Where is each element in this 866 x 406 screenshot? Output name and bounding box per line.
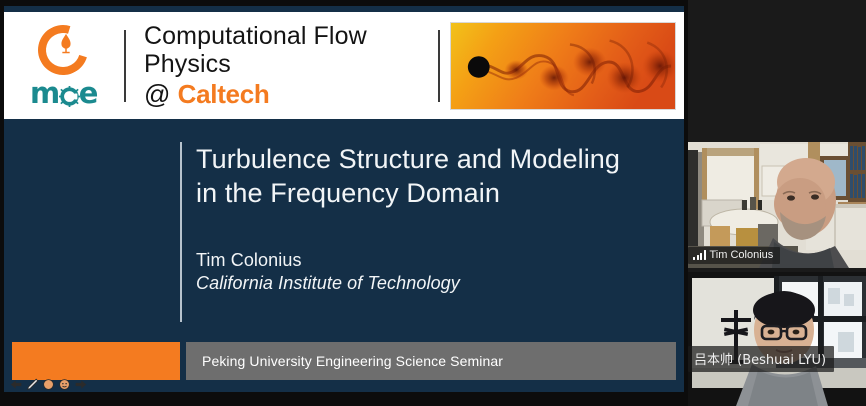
footer-bar: Peking University Engineering Science Se… bbox=[186, 342, 676, 380]
participant-video-panel[interactable]: Tim Colonius bbox=[688, 0, 866, 406]
stamp-icon[interactable] bbox=[42, 378, 55, 391]
slide-footer: Peking University Engineering Science Se… bbox=[4, 342, 684, 380]
slide-header-banner: m bbox=[4, 12, 684, 119]
gear-c-icon bbox=[59, 83, 80, 104]
banner-title-line2: @ Caltech bbox=[144, 80, 438, 109]
arrow-left-icon[interactable] bbox=[10, 378, 23, 391]
participant-tile[interactable]: Tim Colonius bbox=[688, 142, 866, 268]
flame-icon bbox=[58, 33, 74, 55]
mce-flame-logo-icon bbox=[36, 25, 92, 77]
annotation-toolbar[interactable] bbox=[8, 376, 87, 392]
mce-wordmark-m: m bbox=[30, 79, 60, 108]
participant-name-badge: Tim Colonius bbox=[688, 247, 780, 264]
mce-wordmark-e: e bbox=[79, 79, 98, 108]
participant-tile[interactable]: 吕本帅 (Beshuai LYU) bbox=[688, 272, 866, 406]
banner-title-group: Computational Flow Physics @ Caltech bbox=[126, 22, 438, 109]
audio-signal-icon bbox=[693, 250, 706, 260]
shared-screen-region[interactable]: m bbox=[0, 0, 688, 406]
presentation-slide[interactable]: m bbox=[4, 6, 684, 392]
slide-title-line1: Turbulence Structure and Modeling bbox=[196, 142, 666, 176]
speaker-name: Tim Colonius bbox=[196, 250, 666, 271]
footer-accent-block bbox=[12, 342, 180, 380]
mce-wordmark: m bbox=[30, 79, 98, 108]
banner-brand-caltech: Caltech bbox=[178, 79, 270, 109]
title-vertical-rule bbox=[180, 142, 182, 322]
footer-text: Peking University Engineering Science Se… bbox=[186, 353, 503, 369]
participant-name-badge: 吕本帅 (Beshuai LYU) bbox=[688, 346, 834, 372]
arrow-right-icon[interactable] bbox=[74, 378, 87, 391]
participant-name: Tim Colonius bbox=[710, 249, 774, 261]
banner-at-symbol: @ bbox=[144, 79, 170, 109]
pen-icon[interactable] bbox=[26, 378, 39, 391]
slide-title-line2: in the Frequency Domain bbox=[196, 176, 666, 210]
banner-divider-right bbox=[438, 30, 440, 102]
participant-name: 吕本帅 (Beshuai LYU) bbox=[694, 349, 826, 368]
title-block: Turbulence Structure and Modeling in the… bbox=[196, 142, 666, 294]
face-stamp-icon[interactable] bbox=[58, 378, 71, 391]
mce-logo: m bbox=[4, 12, 124, 119]
banner-title-line1: Computational Flow Physics bbox=[144, 22, 438, 78]
vortex-street-flow-visualization bbox=[450, 22, 676, 110]
zoom-meeting-window: m bbox=[0, 0, 866, 406]
speaker-affiliation: California Institute of Technology bbox=[196, 273, 666, 294]
participant-video-feed bbox=[688, 272, 866, 406]
